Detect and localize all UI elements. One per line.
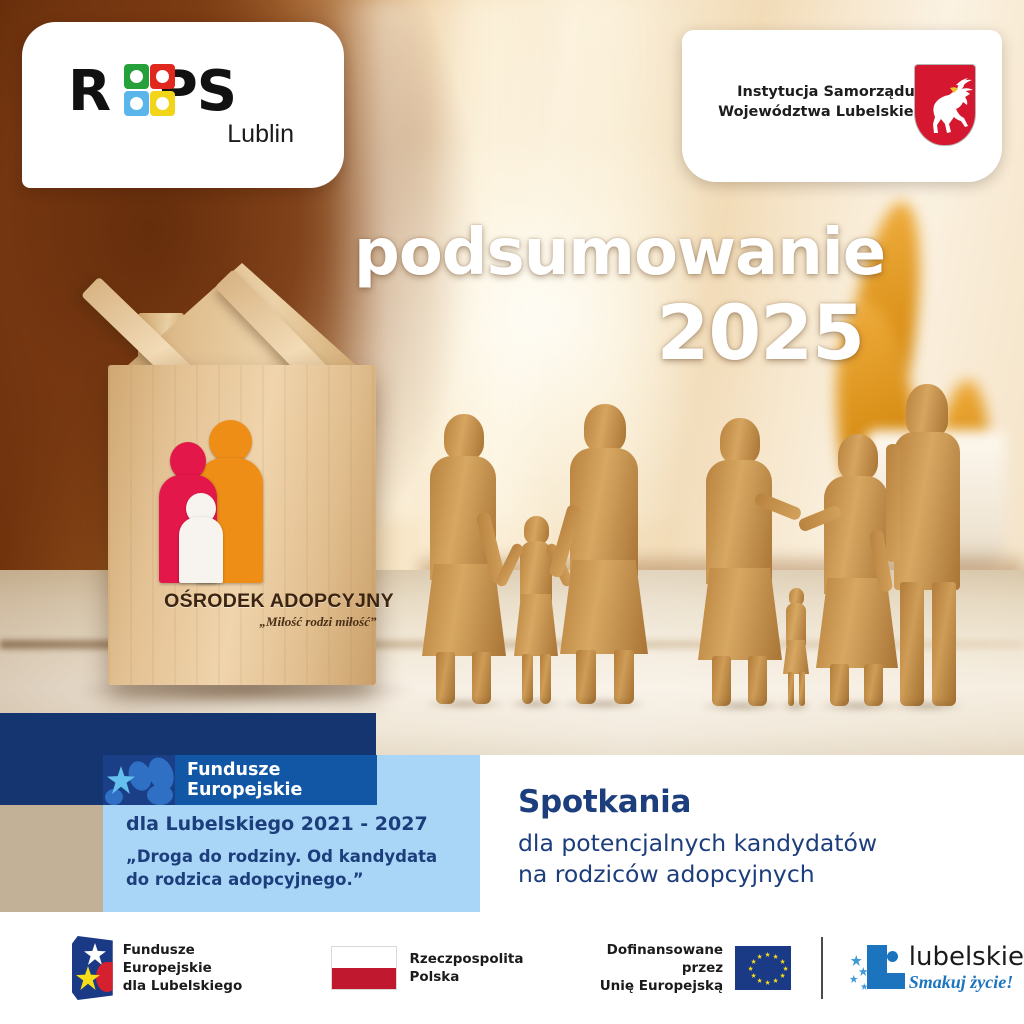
- instytucja-label: Instytucja Samorządu Województwa Lubelsk…: [716, 82, 936, 122]
- lubelskie-mark-icon: [849, 941, 903, 995]
- meeting-info-block: Spotkania dla potencjalnych kandydatów n…: [518, 782, 998, 890]
- adoption-center-emblem: OŚRODEK ADOPCYJNY „Miłość rodzi miłość”: [163, 420, 393, 640]
- rops-wordmark: ROPS: [68, 62, 298, 124]
- footer-logo-strip: Fundusze Europejskie dla Lubelskiego Rze…: [0, 912, 1024, 1024]
- footer-fe-line-2: dla Lubelskiego: [123, 977, 264, 995]
- footer-eu-line-1: Dofinansowane przez: [585, 941, 723, 977]
- instytucja-line-2: Województwa Lubelskiego: [716, 102, 936, 122]
- meeting-subtitle-line-1: dla potencjalnych kandydatów: [518, 828, 998, 859]
- instytucja-logo-card: Instytucja Samorządu Województwa Lubelsk…: [682, 30, 1002, 182]
- eu-program-subtitle: dla Lubelskiego 2021 - 2027: [126, 813, 466, 835]
- footer-pl-line-2: Polska: [409, 968, 523, 986]
- emblem-title: OŚRODEK ADOPCYJNY: [149, 590, 409, 613]
- emblem-tagline: „Miłość rodzi miłość”: [223, 614, 413, 630]
- rops-subtitle: Lublin: [227, 120, 294, 149]
- meeting-subtitle-line-2: na rodziców adopcyjnych: [518, 859, 998, 890]
- fundusze-europejskie-badge: Fundusze Europejskie: [103, 755, 377, 805]
- footer-fundusze-europejskie-logo: Fundusze Europejskie dla Lubelskiego: [72, 936, 263, 1000]
- footer-divider: [821, 937, 823, 999]
- instytucja-line-1: Instytucja Samorządu: [716, 82, 936, 102]
- wooden-figure-woman-second: [558, 404, 650, 704]
- page-title: podsumowanie 2025: [354, 216, 884, 376]
- headline-line-1: podsumowanie: [354, 216, 884, 290]
- footer-eu-cofinancing-logo: Dofinansowane przez Unię Europejską: [585, 941, 791, 995]
- rops-logo-card: ROPS Lublin: [22, 22, 344, 188]
- wooden-figure-woman-left: [422, 414, 508, 704]
- four-people-pinwheel-icon: [124, 64, 176, 118]
- wooden-figure-man-right: [888, 384, 966, 706]
- footer-fe-line-1: Fundusze Europejskie: [123, 941, 264, 977]
- lubelskie-tagline: Smakuj życie!: [909, 971, 1024, 993]
- project-quote-line-1: „Droga do rodziny. Od kandydata: [126, 845, 456, 868]
- wooden-figure-child-small: [780, 588, 812, 706]
- poland-flag-icon: [331, 946, 397, 990]
- lublin-coat-of-arms-deer-icon: [914, 64, 976, 146]
- wooden-family-figures: [418, 376, 1024, 706]
- fundusze-europejskie-flag-icon: [72, 936, 113, 1000]
- european-union-flag-icon: [735, 946, 791, 990]
- lubelskie-text-block: lubelskie Smakuj życie!: [909, 944, 1024, 993]
- footer-eu-label: Dofinansowane przez Unię Europejską: [585, 941, 723, 995]
- footer-pl-label: Rzeczpospolita Polska: [409, 950, 523, 986]
- project-quote: „Droga do rodziny. Od kandydata do rodzi…: [126, 845, 456, 891]
- wooden-figure-child-left: [508, 516, 562, 704]
- headline-line-2: 2025: [354, 290, 884, 376]
- lubelskie-wordmark: lubelskie: [909, 944, 1024, 970]
- rops-logo: ROPS Lublin: [68, 62, 298, 162]
- wooden-figure-woman-handshake-left: [698, 418, 786, 706]
- fundusze-europejskie-label: Fundusze Europejskie: [175, 760, 377, 800]
- fundusze-europejskie-mark-icon: [103, 755, 175, 805]
- footer-rzeczpospolita-polska-logo: Rzeczpospolita Polska: [331, 946, 523, 990]
- project-quote-line-2: do rodzica adopcyjnego.”: [126, 868, 456, 891]
- footer-lubelskie-logo: lubelskie Smakuj życie!: [849, 941, 1024, 995]
- footer-eu-line-2: Unię Europejską: [585, 977, 723, 995]
- meeting-title: Spotkania: [518, 782, 998, 822]
- meeting-subtitle: dla potencjalnych kandydatów na rodziców…: [518, 828, 998, 890]
- rops-letter-r: R: [68, 59, 110, 124]
- footer-pl-line-1: Rzeczpospolita: [409, 950, 523, 968]
- poster-canvas: OŚRODEK ADOPCYJNY „Miłość rodzi miłość”: [0, 0, 1024, 1024]
- footer-fe-label: Fundusze Europejskie dla Lubelskiego: [123, 941, 264, 995]
